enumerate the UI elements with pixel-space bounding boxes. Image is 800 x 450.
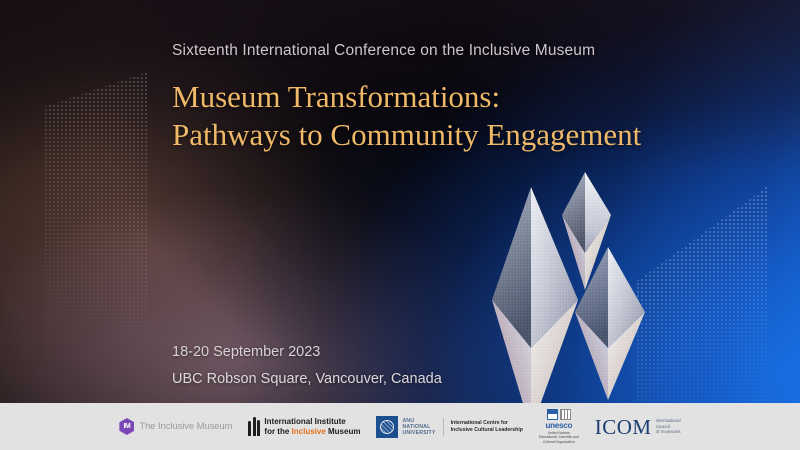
logo-international-institute[interactable]: International Institute for the Inclusiv… — [248, 417, 360, 437]
conference-dates: 18-20 September 2023 — [172, 344, 320, 360]
logo-label-line2-pre: for the — [264, 427, 291, 436]
icom-tagline: international council of museums — [656, 418, 681, 435]
sponsor-logo-strip: IM The Inclusive Museum International In… — [0, 403, 800, 450]
unesco-temple-icon — [547, 409, 571, 420]
centre-label: International Centre for Inclusive Cultu… — [451, 420, 523, 433]
logo-unesco[interactable]: unesco United Nations Educational, Scien… — [539, 409, 579, 444]
centre-line2: Inclusive Cultural Leadership — [451, 427, 523, 433]
conference-kicker: Sixteenth International Conference on th… — [172, 42, 595, 60]
logo-label: International Institute for the Inclusiv… — [264, 417, 360, 437]
anu-crest-icon — [376, 416, 398, 438]
page-title: Museum Transformations: Pathways to Comm… — [172, 78, 641, 154]
logo-divider — [443, 418, 444, 436]
logo-monogram: IM — [123, 423, 130, 430]
logo-label-highlight: Inclusive — [292, 427, 326, 436]
unesco-tagline: United Nations Educational, Scientific a… — [539, 431, 579, 444]
pillars-icon — [248, 417, 260, 436]
unesco-wordmark: unesco — [545, 421, 572, 430]
logo-label: The Inclusive Museum — [139, 421, 232, 432]
icom-wordmark: ICOM — [595, 416, 652, 438]
logo-the-inclusive-museum[interactable]: IM The Inclusive Museum — [119, 418, 232, 435]
logo-label-line2-post: Museum — [326, 427, 361, 436]
anu-line3: UNIVERSITY — [402, 430, 435, 436]
hexagon-icon: IM — [119, 418, 134, 435]
anu-wordmark: ANU NATIONAL UNIVERSITY — [402, 418, 435, 436]
logo-label-line1: International Institute — [264, 417, 345, 426]
conference-banner: Sixteenth International Conference on th… — [0, 0, 800, 450]
conference-venue: UBC Robson Square, Vancouver, Canada — [172, 371, 442, 387]
centre-line1: International Centre for — [451, 420, 508, 426]
logo-icom[interactable]: ICOM international council of museums — [595, 416, 681, 438]
logo-anu-international-centre[interactable]: ANU NATIONAL UNIVERSITY International Ce… — [376, 416, 523, 438]
